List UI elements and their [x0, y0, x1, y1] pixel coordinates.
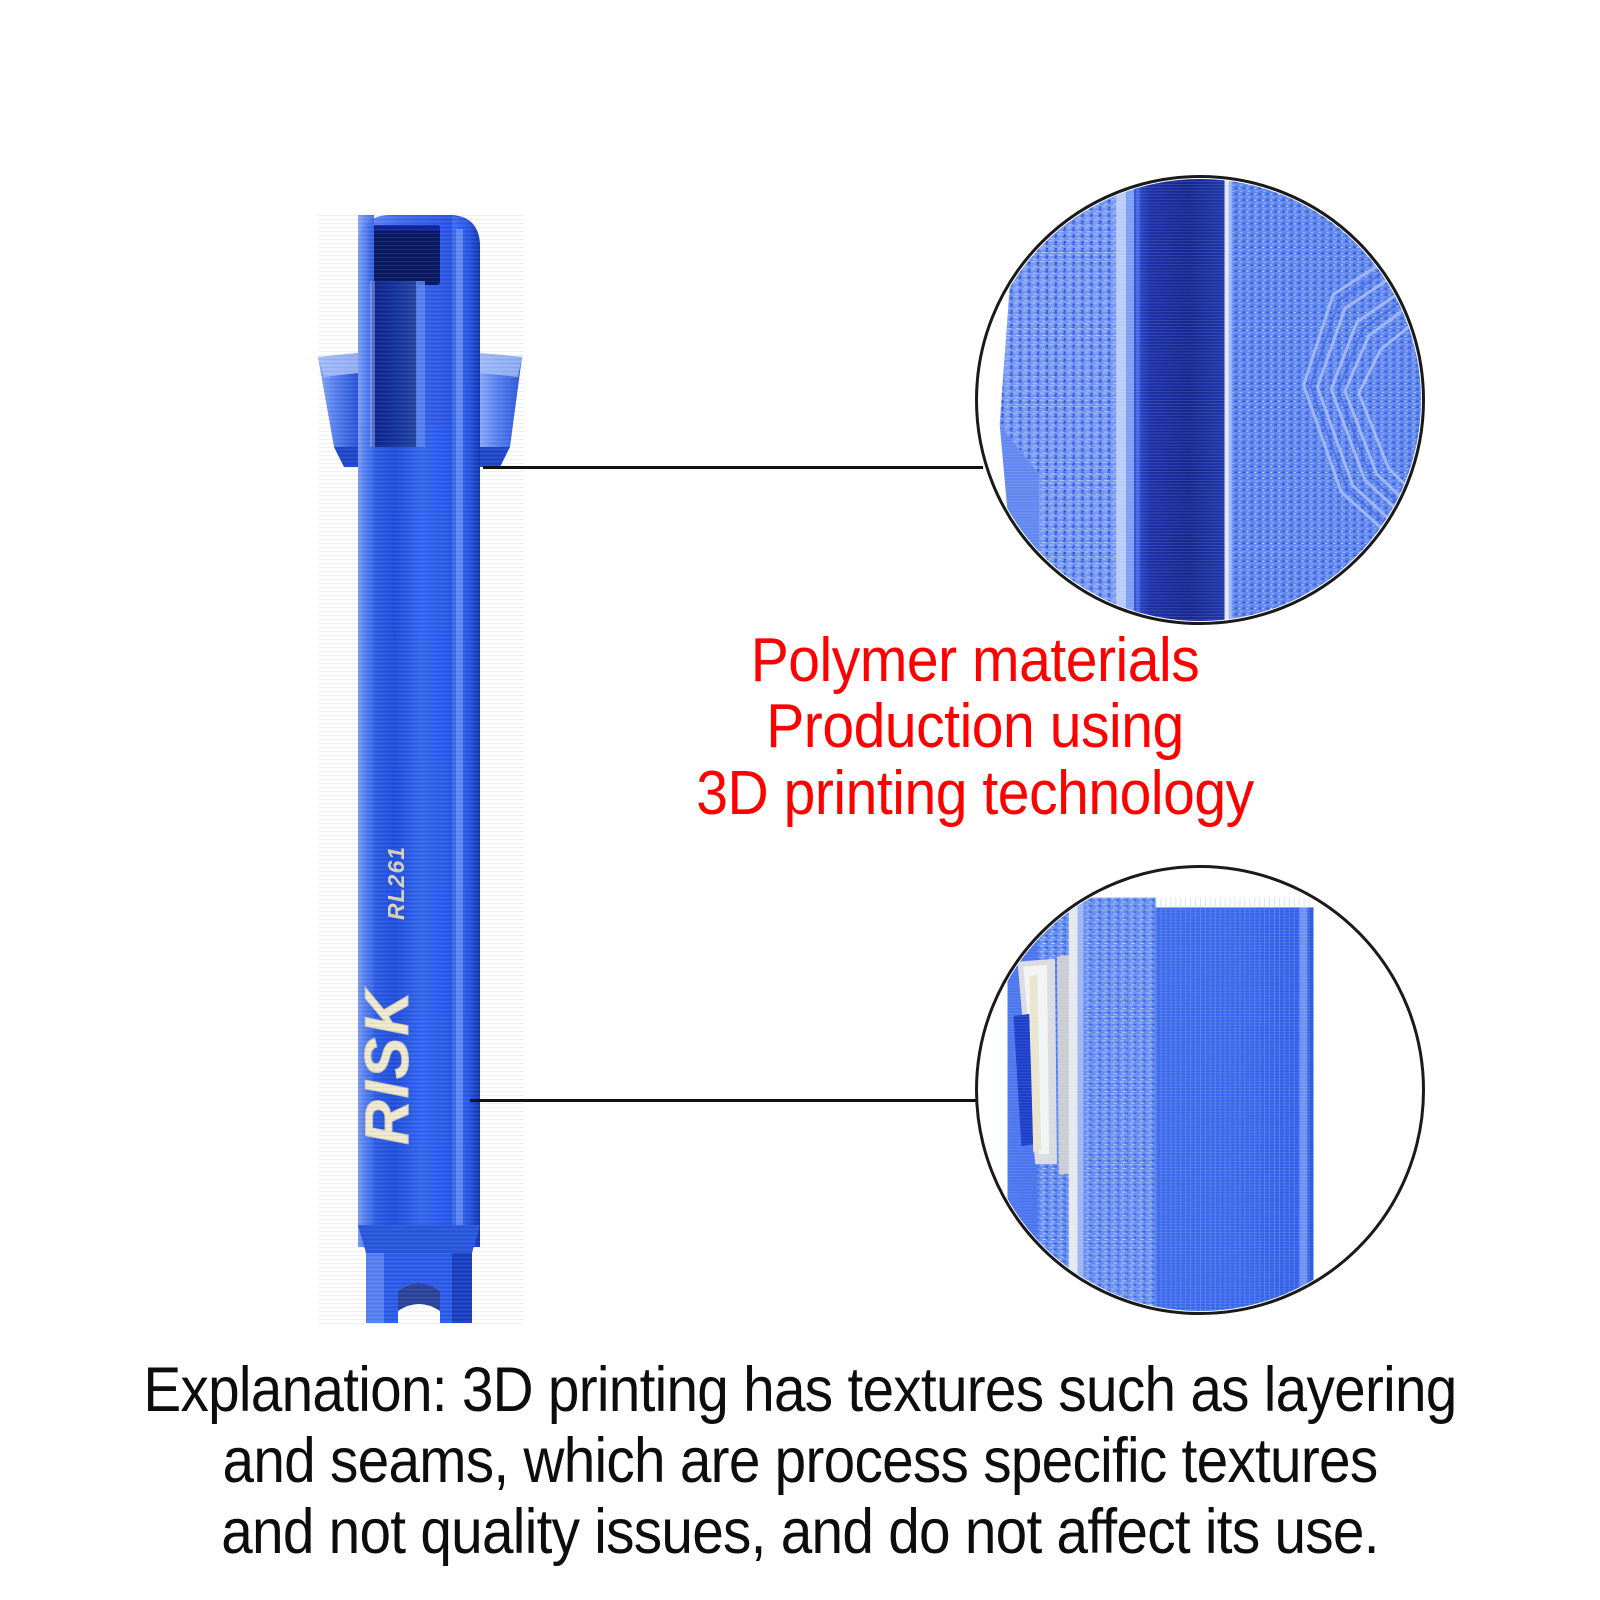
- callout-leader-line-top: [483, 466, 983, 469]
- explanation-line-3: and not quality issues, and do not affec…: [80, 1497, 1520, 1568]
- explanation-block: Explanation: 3D printing has textures su…: [80, 1355, 1520, 1569]
- red-caption-block: Polymer materials Production using 3D pr…: [593, 628, 1357, 827]
- explanation-line-2: and seams, which are process specific te…: [80, 1426, 1520, 1497]
- explanation-line-1: Explanation: 3D printing has textures su…: [80, 1355, 1520, 1426]
- red-caption-line-1: Polymer materials: [593, 628, 1357, 694]
- magnifier-circle-layer-texture: [975, 175, 1425, 625]
- magnifier-circle-seam-texture: [975, 865, 1425, 1315]
- red-caption-line-3: 3D printing technology: [593, 761, 1357, 827]
- red-caption-line-2: Production using: [593, 694, 1357, 760]
- product-tool-image: RISK RL261: [300, 185, 530, 1325]
- callout-leader-line-bottom: [470, 1099, 990, 1102]
- product-infographic: RISK RL261: [0, 0, 1600, 1600]
